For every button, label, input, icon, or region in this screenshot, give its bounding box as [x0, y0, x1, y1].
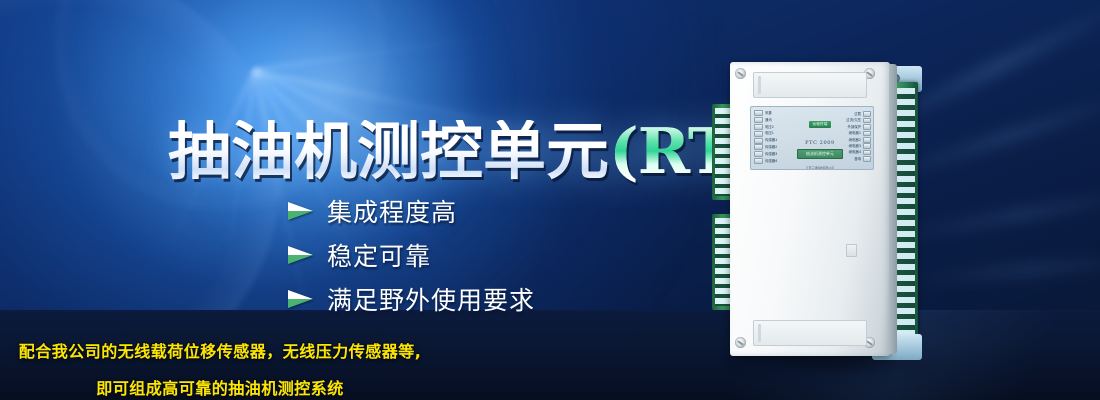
led-icon [863, 156, 871, 162]
indicator-label: 传感器4 [765, 158, 777, 165]
indicator-label: 电压2 [765, 124, 774, 131]
led-icon [863, 137, 871, 143]
device-slot-bottom [753, 320, 867, 346]
device-side-edge [889, 64, 897, 354]
list-item: 满足野外使用要求 [288, 278, 535, 320]
indicator-label: 电压1 [765, 130, 774, 137]
device-company-name: 江苏三通科技有限公司 [797, 166, 843, 170]
indicator-row: 电压1 [754, 130, 796, 137]
product-image-rtu-device: 采集 通讯 电压2 电压1 传感器1 传感器2 传感器3 传感器4 远程终端 P… [716, 62, 956, 362]
led-icon [863, 150, 871, 156]
indicator-row: 传感器1 [754, 137, 796, 144]
list-item: 稳定可靠 [288, 234, 535, 276]
light-ray [255, 35, 493, 72]
indicator-row: 音响 [825, 156, 871, 162]
led-icon [754, 144, 763, 150]
led-icon [754, 151, 763, 157]
page-title-main: 抽油机测控单元 [168, 115, 609, 188]
indicator-column-right: 过载 过流/欠压 外部保护 继电器1 继电器2 继电器3 继电器4 音响 [825, 111, 871, 162]
feature-label: 稳定可靠 [327, 237, 431, 273]
indicator-label: 传感器3 [765, 151, 777, 158]
led-icon [754, 138, 763, 144]
led-icon [863, 111, 871, 117]
led-icon [863, 131, 871, 137]
screw-icon [735, 337, 746, 348]
led-icon [863, 143, 871, 149]
led-icon [754, 110, 763, 116]
led-icon [863, 124, 871, 130]
led-icon [863, 118, 871, 124]
led-icon [754, 131, 763, 137]
device-vent [846, 244, 857, 257]
feature-label: 集成程度高 [327, 193, 457, 229]
tagline-line-2: 即可组成高可靠的抽油机测控系统 [0, 375, 1100, 399]
indicator-row: 电压2 [754, 124, 796, 131]
led-icon [754, 158, 763, 164]
screw-icon [735, 68, 746, 79]
indicator-label: 传感器1 [765, 137, 777, 144]
indicator-row: 传感器4 [754, 158, 796, 165]
led-icon [754, 124, 763, 130]
indicator-label: 采集 [765, 110, 772, 117]
indicator-column-left: 采集 通讯 电压2 电压1 传感器1 传感器2 传感器3 传感器4 [754, 110, 796, 164]
arrow-right-icon [288, 246, 314, 264]
list-item: 集成程度高 [288, 190, 535, 232]
led-icon [754, 117, 763, 123]
feature-label: 满足野外使用要求 [327, 281, 535, 317]
indicator-label: 音响 [854, 156, 861, 162]
indicator-row: 通讯 [754, 117, 796, 124]
indicator-label: 通讯 [765, 117, 772, 124]
device-slot-top [753, 72, 867, 98]
device-body: 采集 通讯 电压2 电压1 传感器1 传感器2 传感器3 传感器4 远程终端 P… [730, 62, 890, 356]
arrow-right-icon [288, 290, 314, 308]
indicator-row: 采集 [754, 110, 796, 117]
feature-list: 集成程度高 稳定可靠 满足野外使用要求 [288, 190, 535, 322]
indicator-row: 传感器3 [754, 151, 796, 158]
device-label-plate: 采集 通讯 电压2 电压1 传感器1 传感器2 传感器3 传感器4 远程终端 P… [750, 106, 874, 170]
indicator-label: 传感器2 [765, 144, 777, 151]
indicator-row: 传感器2 [754, 144, 796, 151]
arrow-right-icon [288, 202, 314, 220]
product-banner: 抽油机测控单元(RTU) 集成程度高 稳定可靠 满足野外使用要求 配合我公司的无… [0, 0, 1100, 400]
